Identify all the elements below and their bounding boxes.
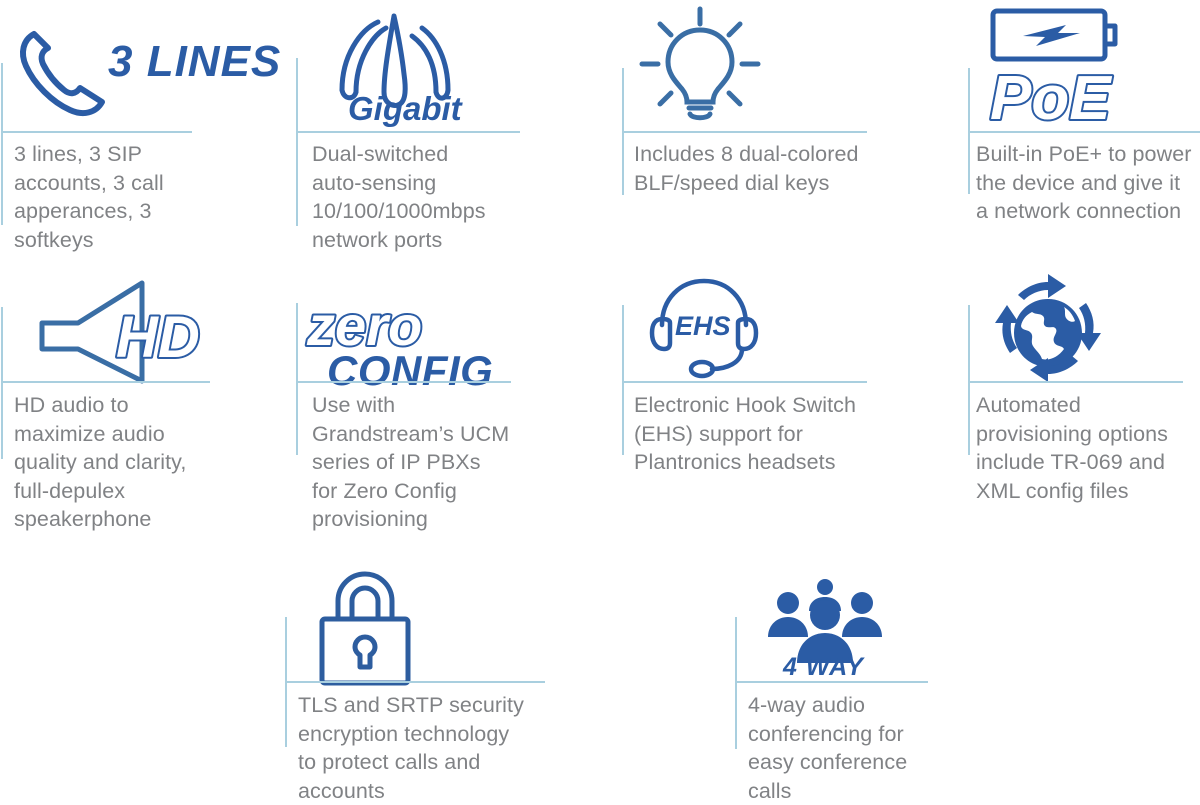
svg-text:3 LINES: 3 LINES: [108, 37, 281, 86]
feature-card-hd-audio: HD HD audio to maximize audio quality an…: [0, 265, 290, 555]
divider-horizontal: [968, 381, 1183, 383]
phone-handset-icon: 3 LINES: [10, 18, 190, 123]
feature-card-security: TLS and SRTP security encryption technol…: [270, 555, 570, 792]
speaker-hd-icon: HD: [34, 279, 204, 385]
feature-card-blf-keys: Includes 8 dual-colored BLF/speed dial k…: [600, 0, 900, 265]
svg-text:4 WAY: 4 WAY: [782, 653, 865, 681]
divider-vertical: [296, 303, 298, 455]
feature-description: 3 lines, 3 SIP accounts, 3 call apperanc…: [14, 140, 264, 254]
feature-description: Automated provisioning options include T…: [976, 391, 1200, 505]
zero-config-icon: zero CONFIG: [305, 295, 515, 391]
divider-horizontal: [296, 381, 511, 383]
feature-description: Electronic Hook Switch (EHS) support for…: [634, 391, 906, 477]
divider-horizontal: [735, 681, 928, 683]
feature-grid: 3 LINES 3 lines, 3 SIP accounts, 3 call …: [0, 0, 1200, 792]
lightbulb-icon: [630, 4, 770, 124]
feature-description: 4-way audio conferencing for easy confer…: [748, 691, 960, 805]
divider-horizontal: [1, 131, 192, 133]
feature-description: TLS and SRTP security encryption technol…: [298, 691, 570, 805]
feature-description: Includes 8 dual-colored BLF/speed dial k…: [634, 140, 904, 197]
feature-card-poe: PoE Built-in PoE+ to power the device an…: [940, 0, 1200, 265]
divider-vertical: [1, 307, 3, 459]
globe-refresh-icon: [988, 273, 1108, 383]
feature-card-three-lines: 3 LINES 3 lines, 3 SIP accounts, 3 call …: [0, 0, 290, 265]
feature-card-four-way: 4 WAY 4-way audio conferencing for easy …: [700, 555, 1000, 792]
divider-vertical: [296, 58, 298, 226]
svg-text:EHS: EHS: [675, 311, 731, 341]
gigabit-speed-icon: Gigabit: [330, 8, 465, 123]
feature-card-gigabit: Gigabit Dual-switched auto-sensing 10/10…: [280, 0, 570, 265]
feature-description: Built-in PoE+ to power the device and gi…: [976, 140, 1200, 226]
divider-horizontal: [968, 131, 1200, 133]
divider-vertical: [968, 305, 970, 455]
svg-text:Gigabit: Gigabit: [348, 90, 464, 127]
divider-vertical: [735, 617, 737, 749]
feature-description: HD audio to maximize audio quality and c…: [14, 391, 276, 534]
divider-horizontal: [622, 131, 867, 133]
padlock-icon: [310, 567, 420, 689]
divider-vertical: [1, 63, 3, 225]
svg-text:PoE: PoE: [990, 64, 1112, 133]
svg-text:CONFIG: CONFIG: [327, 347, 493, 394]
divider-horizontal: [285, 681, 545, 683]
divider-horizontal: [296, 131, 520, 133]
divider-vertical: [622, 305, 624, 455]
divider-horizontal: [622, 381, 867, 383]
feature-card-ehs: EHS Electronic Hook Switch (EHS) support…: [600, 265, 900, 555]
battery-bolt-icon: PoE: [988, 6, 1168, 131]
people-group-icon: 4 WAY: [765, 575, 885, 675]
divider-horizontal: [1, 381, 210, 383]
headset-ehs-icon: EHS: [646, 273, 766, 378]
feature-card-zero-config: zero CONFIG Use with Grandstream’s UCM s…: [280, 265, 570, 555]
feature-card-provisioning: Automated provisioning options include T…: [940, 265, 1200, 555]
feature-description: Dual-switched auto-sensing 10/100/1000mb…: [312, 140, 564, 254]
feature-description: Use with Grandstream’s UCM series of IP …: [312, 391, 564, 534]
svg-text:HD: HD: [116, 305, 200, 370]
